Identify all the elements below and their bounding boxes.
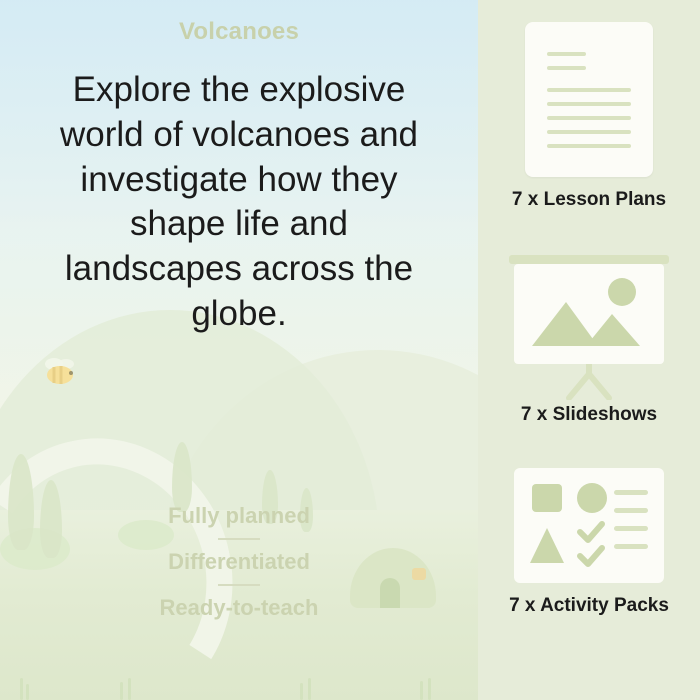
- screen-surface: [514, 264, 664, 364]
- resource-slideshows: 7 x Slideshows: [478, 255, 700, 426]
- resource-label-activity-packs: 7 x Activity Packs: [509, 595, 669, 617]
- feature-list: Fully planned Differentiated Ready-to-te…: [0, 500, 478, 624]
- doc-line: [547, 130, 631, 134]
- document-icon: [525, 22, 653, 177]
- feature-divider: [218, 538, 260, 540]
- resource-label-slideshows: 7 x Slideshows: [521, 404, 657, 426]
- topic-title: Volcanoes: [179, 18, 299, 46]
- list-line: [614, 526, 648, 531]
- screen-stand-icon: [559, 364, 619, 400]
- triangle-shape-icon: [530, 528, 564, 563]
- square-shape-icon: [532, 484, 562, 512]
- left-content: Volcanoes Explore the explosive world of…: [0, 0, 478, 700]
- doc-line: [547, 52, 586, 56]
- doc-line: [547, 144, 631, 148]
- feature-item-ready-to-teach: Ready-to-teach: [160, 592, 319, 624]
- activity-pack-icon: [514, 468, 664, 583]
- check-icon: [580, 524, 602, 540]
- headline-text: Explore the explosive world of volcanoes…: [39, 68, 439, 337]
- circle-shape-icon: [577, 483, 607, 513]
- presentation-screen-icon: [509, 255, 669, 400]
- mountain-icon: [586, 314, 640, 346]
- mountain-icon: [532, 302, 598, 346]
- doc-line: [547, 116, 631, 120]
- screen-top-bar: [509, 255, 669, 264]
- resource-lesson-plans: 7 x Lesson Plans: [478, 22, 700, 211]
- sun-icon: [608, 278, 636, 306]
- check-icon: [580, 548, 602, 564]
- right-panel: 7 x Lesson Plans 7 x Slideshows: [478, 0, 700, 700]
- list-line: [614, 544, 648, 549]
- promo-graphic: Volcanoes Explore the explosive world of…: [0, 0, 700, 700]
- feature-divider: [218, 584, 260, 586]
- left-panel: Volcanoes Explore the explosive world of…: [0, 0, 478, 700]
- list-line: [614, 490, 648, 495]
- list-line: [614, 508, 648, 513]
- doc-line: [547, 88, 631, 92]
- resource-activity-packs: 7 x Activity Packs: [478, 468, 700, 617]
- resource-label-lesson-plans: 7 x Lesson Plans: [512, 189, 666, 211]
- feature-item-fully-planned: Fully planned: [168, 500, 310, 532]
- feature-item-differentiated: Differentiated: [168, 546, 310, 578]
- doc-line: [547, 102, 631, 106]
- doc-line: [547, 66, 586, 70]
